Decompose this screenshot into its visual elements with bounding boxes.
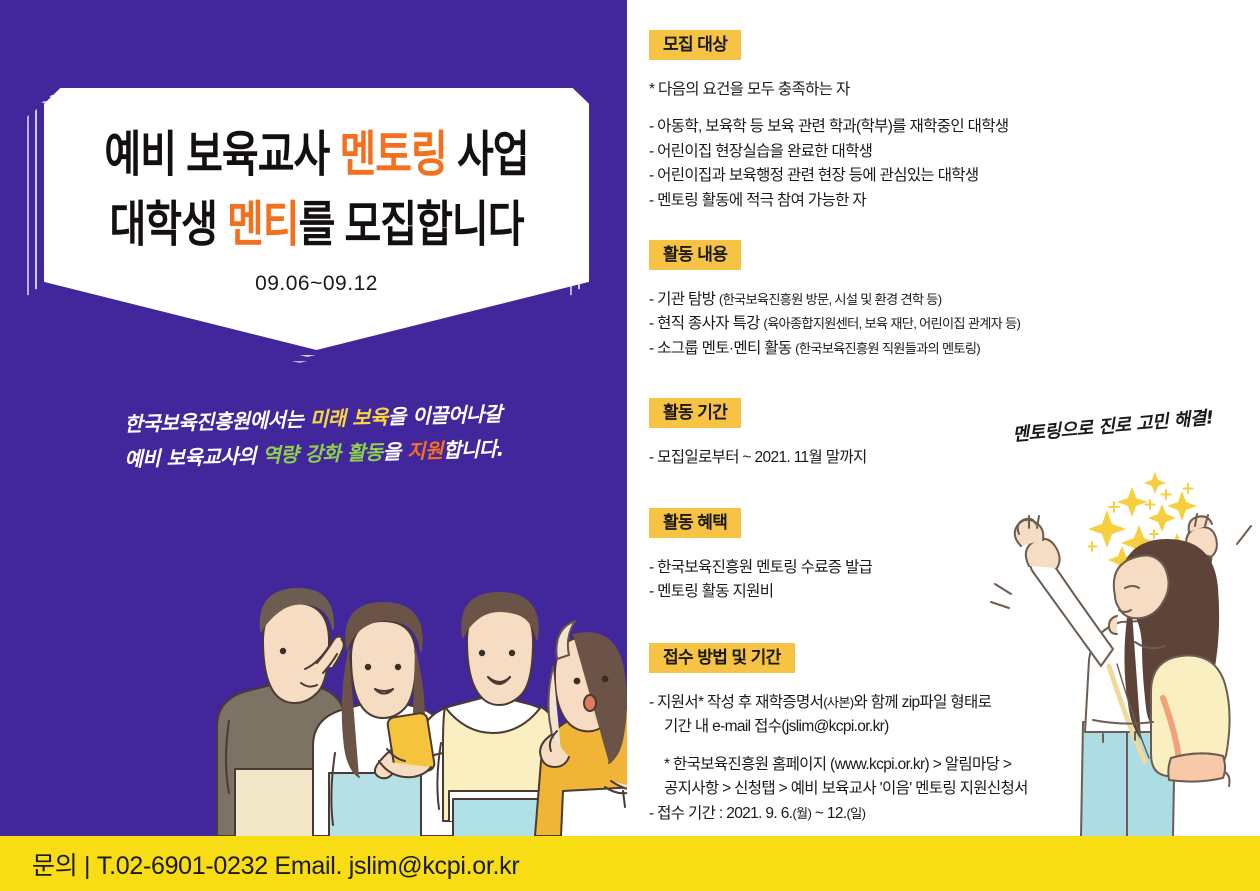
body-main: - 현직 종사자 특강 bbox=[649, 315, 763, 332]
poster-title-line-2: 대학생 멘티를 모집합니다 bbox=[109, 199, 523, 250]
section-body-application-method: - 지원서* 작성 후 재학증명서(사본)와 함께 zip파일 형태로 기간 내… bbox=[649, 691, 1028, 826]
section-body-activity-benefits: - 한국보육진흥원 멘토링 수료증 발급 - 멘토링 활동 지원비 bbox=[649, 556, 872, 605]
body-small: (한국보육진흥원 직원들과의 멘토링) bbox=[795, 341, 980, 356]
title-1-pre: 예비 보육교사 bbox=[104, 128, 339, 182]
body-tail: ~ 12. bbox=[811, 805, 846, 822]
body-small: (한국보육진흥원 방문, 시설 및 환경 견학 등) bbox=[719, 292, 941, 307]
subtitle-2-e: 합니다. bbox=[443, 437, 504, 463]
body-line: - 접수 기간 : 2021. 9. 6.(월) ~ 12.(일) bbox=[649, 802, 1028, 826]
title-2-pre: 대학생 bbox=[109, 198, 227, 252]
poster-title-line-1: 예비 보육교사 멘토링 사업 bbox=[104, 129, 528, 180]
body-small-2: (일) bbox=[846, 806, 865, 821]
body-line: * 다음의 요건을 모두 충족하는 자 bbox=[649, 78, 1008, 102]
body-line: 기간 내 e-mail 접수(jslim@kcpi.or.kr) bbox=[649, 715, 1028, 739]
section-label-application-method: 접수 방법 및 기간 bbox=[649, 643, 795, 673]
body-line: * 한국보육진흥원 홈페이지 (www.kcpi.or.kr) > 알림마당 > bbox=[649, 753, 1028, 777]
body-line: - 지원서* 작성 후 재학증명서(사본)와 함께 zip파일 형태로 bbox=[649, 691, 1028, 715]
body-line: - 아동학, 보육학 등 보육 관련 학과(학부)를 재학중인 대학생 bbox=[649, 115, 1008, 139]
left-hero-panel: 예비 보육교사 멘토링 사업 대학생 멘티를 모집합니다 09.06~09.12… bbox=[0, 0, 627, 836]
section-label-activity-period: 활동 기간 bbox=[649, 398, 741, 428]
cheering-student-illustration bbox=[985, 470, 1260, 836]
body-tail: 와 함께 zip파일 형태로 bbox=[853, 694, 991, 711]
section-label-activity-content: 활동 내용 bbox=[649, 240, 741, 270]
contact-footer-text: 문의 | T.02-6901-0232 Email. jslim@kcpi.or… bbox=[32, 846, 519, 882]
body-line: - 한국보육진흥원 멘토링 수료증 발급 bbox=[649, 556, 872, 580]
title-2-post: 를 모집합니다 bbox=[299, 198, 524, 252]
body-line: - 기관 탐방 (한국보육진흥원 방문, 시설 및 환경 견학 등) bbox=[649, 288, 1020, 312]
section-activity-period: 활동 기간 - 모집일로부터 ~ 2021. 11월 말까지 bbox=[649, 398, 867, 470]
body-line: - 모집일로부터 ~ 2021. 11월 말까지 bbox=[649, 446, 867, 470]
title-2-highlight: 멘티 bbox=[227, 198, 299, 252]
section-label-recruitment-target: 모집 대상 bbox=[649, 30, 741, 60]
handwritten-subtitle: 한국보육진흥원에서는 미래 보육을 이끌어나갈 예비 보육교사의 역량 강화 활… bbox=[0, 393, 627, 480]
subtitle-2-highlight-green: 역량 강화 활동 bbox=[262, 440, 383, 467]
title-1-post: 사업 bbox=[447, 128, 529, 182]
recruitment-date: 09.06~09.12 bbox=[255, 272, 378, 296]
subtitle-2-highlight-orange: 지원 bbox=[407, 438, 443, 463]
section-body-activity-period: - 모집일로부터 ~ 2021. 11월 말까지 bbox=[649, 446, 867, 470]
body-main: - 지원서* 작성 후 재학증명서 bbox=[649, 694, 823, 711]
section-activity-content: 활동 내용 - 기관 탐방 (한국보육진흥원 방문, 시설 및 환경 견학 등)… bbox=[649, 240, 1020, 361]
section-recruitment-target: 모집 대상 * 다음의 요건을 모두 충족하는 자 - 아동학, 보육학 등 보… bbox=[649, 30, 1008, 213]
contact-footer-bar: 문의 | T.02-6901-0232 Email. jslim@kcpi.or… bbox=[0, 836, 1260, 891]
section-body-recruitment-target: * 다음의 요건을 모두 충족하는 자 - 아동학, 보육학 등 보육 관련 학… bbox=[649, 78, 1008, 213]
hexagon-content: 예비 보육교사 멘토링 사업 대학생 멘티를 모집합니다 09.06~09.12 bbox=[44, 88, 589, 350]
body-small: (육아종합지원센터, 보육 재단, 어린이집 관계자 등) bbox=[763, 316, 1020, 331]
section-label-activity-benefits: 활동 혜택 bbox=[649, 508, 741, 538]
body-small: (월) bbox=[792, 806, 811, 821]
body-small: (사본) bbox=[823, 695, 853, 710]
poster-root: 예비 보육교사 멘토링 사업 대학생 멘티를 모집합니다 09.06~09.12… bbox=[0, 0, 1260, 891]
body-main: - 기관 탐방 bbox=[649, 291, 719, 308]
body-line: - 소그룹 멘토·멘티 활동 (한국보육진흥원 직원들과의 멘토링) bbox=[649, 337, 1020, 361]
body-line: - 어린이집과 보육행정 관련 현장 등에 관심있는 대학생 bbox=[649, 164, 1008, 188]
section-activity-benefits: 활동 혜택 - 한국보육진흥원 멘토링 수료증 발급 - 멘토링 활동 지원비 bbox=[649, 508, 872, 605]
title-1-highlight: 멘토링 bbox=[339, 128, 446, 182]
body-line: - 현직 종사자 특강 (육아종합지원센터, 보육 재단, 어린이집 관계자 등… bbox=[649, 312, 1020, 336]
body-line: - 어린이집 현장실습을 완료한 대학생 bbox=[649, 140, 1008, 164]
subtitle-1-c: 을 이끌어나갈 bbox=[387, 402, 502, 429]
section-application-method: 접수 방법 및 기간 - 지원서* 작성 후 재학증명서(사본)와 함께 zip… bbox=[649, 643, 1028, 826]
subtitle-2-c: 을 bbox=[382, 439, 407, 464]
body-line: - 멘토링 활동에 적극 참여 가능한 자 bbox=[649, 189, 1008, 213]
students-group-illustration bbox=[205, 491, 627, 836]
body-line: - 멘토링 활동 지원비 bbox=[649, 580, 872, 604]
hexagon-title-badge: 예비 보육교사 멘토링 사업 대학생 멘티를 모집합니다 09.06~09.12 bbox=[44, 88, 589, 350]
subtitle-1-a: 한국보육진흥원에서는 bbox=[124, 407, 310, 436]
section-body-activity-content: - 기관 탐방 (한국보육진흥원 방문, 시설 및 환경 견학 등) - 현직 … bbox=[649, 288, 1020, 361]
body-main: - 접수 기간 : 2021. 9. 6. bbox=[649, 805, 792, 822]
subtitle-2-a: 예비 보육교사의 bbox=[124, 443, 263, 471]
body-line: 공지사항 > 신청탭 > 예비 보육교사 '이음' 멘토링 지원신청서 bbox=[649, 777, 1028, 801]
subtitle-1-highlight: 미래 보육 bbox=[309, 405, 388, 431]
body-main: - 소그룹 멘토·멘티 활동 bbox=[649, 340, 795, 357]
